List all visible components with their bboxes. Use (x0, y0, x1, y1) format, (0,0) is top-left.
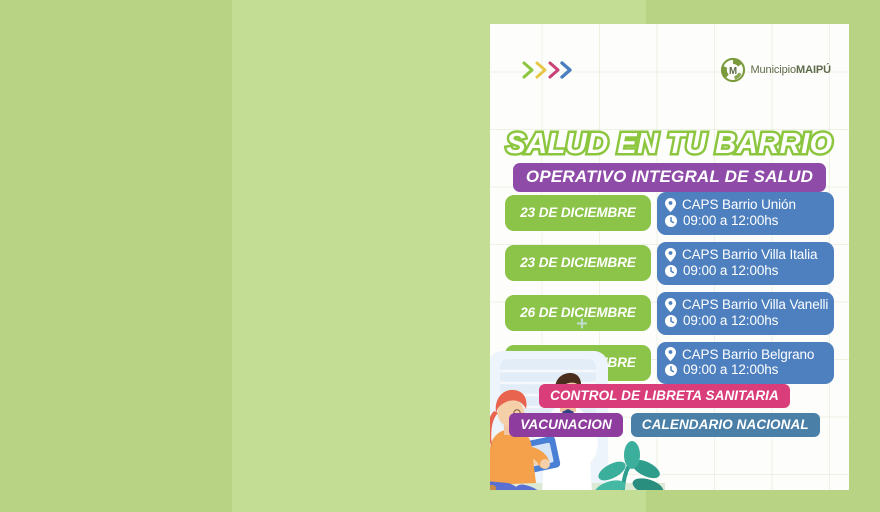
cross-decoration-icon (562, 361, 584, 383)
location-line: CAPS Barrio Belgrano (665, 347, 825, 363)
brand-label-light: Municipio (750, 64, 796, 76)
cross-decoration-icon (576, 318, 588, 330)
poster-subtitle-wrapper: OPERATIVO INTEGRAL DE SALUD (490, 163, 849, 192)
stool (490, 485, 496, 490)
tag-control-libreta-sanitaria: CONTROL DE LIBRETA SANITARIA (539, 384, 790, 408)
schedule-row: 29 DE DICIEMBRE CAPS Barrio Belgrano (505, 342, 834, 385)
clock-icon (665, 215, 677, 227)
location-time: 09:00 a 12:00hs (683, 362, 778, 378)
poster-header: M MunicipioMAIPÚ (490, 50, 849, 90)
location-time: 09:00 a 12:00hs (683, 213, 778, 229)
location-card: CAPS Barrio Villa Vanelli 09:00 a 12:00h… (657, 292, 834, 335)
location-time: 09:00 a 12:00hs (683, 313, 778, 329)
schedule-list: 23 DE DICIEMBRE CAPS Barrio Unión (505, 192, 834, 384)
clock-icon (665, 315, 677, 327)
location-name: CAPS Barrio Belgrano (682, 347, 814, 363)
location-card: CAPS Barrio Belgrano 09:00 a 12:00hs (657, 342, 834, 385)
location-line: CAPS Barrio Unión (665, 197, 825, 213)
date-badge: 23 DE DICIEMBRE (505, 245, 651, 281)
brand-label: MunicipioMAIPÚ (750, 64, 831, 76)
plant (592, 441, 665, 490)
chevron-group-icon (522, 61, 580, 79)
tag-row: CONTROL DE LIBRETA SANITARIA (539, 384, 790, 408)
tag-calendario-nacional: CALENDARIO NACIONAL (631, 413, 820, 437)
time-line: 09:00 a 12:00hs (665, 213, 825, 229)
location-name: CAPS Barrio Villa Vanelli (682, 297, 828, 313)
poster-subtitle: OPERATIVO INTEGRAL DE SALUD (513, 163, 826, 192)
schedule-row: 26 DE DICIEMBRE CAPS Barrio Villa Vanell… (505, 292, 834, 335)
date-badge: 23 DE DICIEMBRE (505, 195, 651, 231)
brand-label-bold: MAIPÚ (796, 64, 831, 76)
clock-icon (665, 364, 677, 376)
time-line: 09:00 a 12:00hs (665, 313, 825, 329)
schedule-row: 23 DE DICIEMBRE CAPS Barrio Villa Italia (505, 242, 834, 285)
chevron-decoration (522, 61, 580, 79)
location-card: CAPS Barrio Unión 09:00 a 12:00hs (657, 192, 834, 235)
image-viewer-panel: M MunicipioMAIPÚ SALUD EN TU BARRIO OPER… (232, 0, 646, 512)
poster-image: M MunicipioMAIPÚ SALUD EN TU BARRIO OPER… (490, 24, 849, 490)
schedule-row: 23 DE DICIEMBRE CAPS Barrio Unión (505, 192, 834, 235)
municipio-mark-icon: M (720, 57, 746, 83)
clipboard (517, 435, 561, 474)
municipio-maipu-logo: M MunicipioMAIPÚ (720, 57, 831, 83)
tag-row: VACUNACION CALENDARIO NACIONAL (509, 413, 819, 437)
location-name: CAPS Barrio Villa Italia (682, 247, 817, 263)
tag-vacunacion: VACUNACION (509, 413, 623, 437)
time-line: 09:00 a 12:00hs (665, 362, 825, 378)
time-line: 09:00 a 12:00hs (665, 263, 825, 279)
svg-text:M: M (729, 66, 737, 77)
poster-title: SALUD EN TU BARRIO (490, 128, 849, 161)
location-name: CAPS Barrio Unión (682, 197, 796, 213)
location-line: CAPS Barrio Villa Vanelli (665, 297, 825, 313)
location-pin-icon (665, 347, 676, 361)
location-pin-icon (665, 198, 676, 212)
location-time: 09:00 a 12:00hs (683, 263, 778, 279)
location-line: CAPS Barrio Villa Italia (665, 247, 825, 263)
service-tags: CONTROL DE LIBRETA SANITARIA VACUNACION … (490, 384, 849, 437)
location-pin-icon (665, 248, 676, 262)
clock-icon (665, 265, 677, 277)
location-card: CAPS Barrio Villa Italia 09:00 a 12:00hs (657, 242, 834, 285)
location-pin-icon (665, 298, 676, 312)
